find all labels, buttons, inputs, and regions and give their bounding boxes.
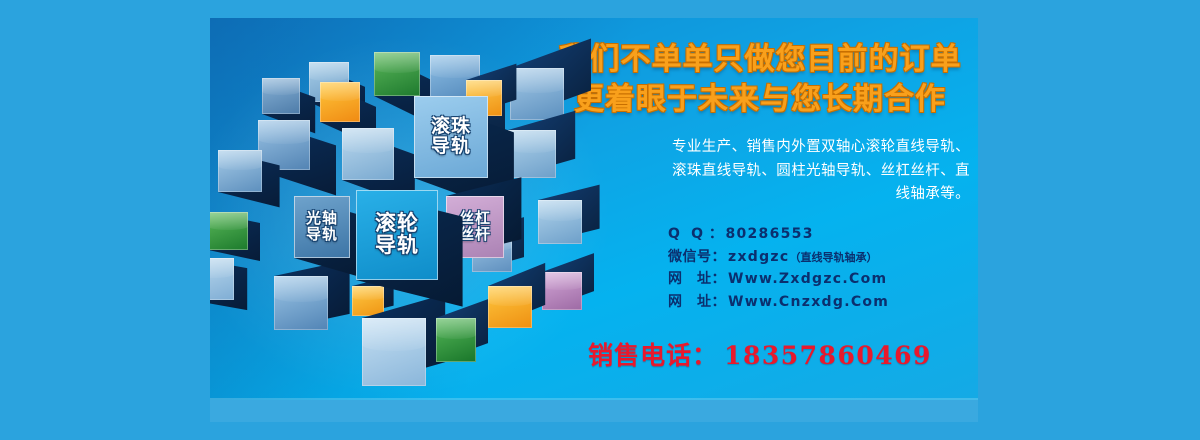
product-cube-line1: 滚珠 xyxy=(431,117,471,137)
sales-phone-number[interactable]: 18357860469 xyxy=(724,341,932,370)
product-cube-guangzhou-daogui[interactable]: 光轴 导轨 xyxy=(294,196,350,258)
decor-cube-orange-bottomright xyxy=(488,286,532,328)
website-2-value[interactable]: Www.Cnzxdg.Com xyxy=(728,291,889,314)
decor-cube-green-top xyxy=(374,52,420,96)
qq-value[interactable]: 80286553 xyxy=(725,223,813,246)
decor-cube-steel-left xyxy=(262,78,300,114)
website-1-value[interactable]: Www.Zxdgzc.Com xyxy=(728,268,887,291)
product-cube-line1: 滚轮 xyxy=(375,213,419,235)
panel-floor xyxy=(210,400,978,422)
wechat-value[interactable]: zxdgzc xyxy=(728,246,789,269)
decor-cube-blue-midright xyxy=(538,200,582,244)
qq-label: Q Q ： xyxy=(668,223,723,246)
decor-cube-blue-right xyxy=(508,130,556,178)
decor-cube-green-bottom xyxy=(436,318,476,362)
decor-cube-purple-right xyxy=(542,272,582,310)
description-line-1: 专业生产、销售内外置双轴心滚轮直线导轨、 xyxy=(576,136,970,159)
product-cube-line1: 光轴 xyxy=(306,211,338,227)
product-cube-gunlun-daogui[interactable]: 滚轮 导轨 xyxy=(356,190,438,280)
headline-line-1: 我们不单单只做您目前的订单 xyxy=(550,40,970,80)
decor-cube-pale-lowleft xyxy=(210,258,234,300)
description-text: 专业生产、销售内外置双轴心滚轮直线导轨、 滚珠直线导轨、圆柱光轴导轨、丝杠丝杆、… xyxy=(550,136,970,206)
sales-phone[interactable]: 销售电话：18357860469 xyxy=(550,336,970,372)
product-cube-line2: 导轨 xyxy=(431,137,471,157)
product-cube-line1: 丝杠 xyxy=(459,211,491,227)
contact-row-wechat: 微信号： zxdgzc （直线导轨轴承） xyxy=(668,246,970,269)
description-line-3: 线轴承等。 xyxy=(576,183,970,206)
decor-cube-pale-center xyxy=(342,128,394,180)
description-line-2: 滚珠直线导轨、圆柱光轴导轨、丝杠丝杆、直 xyxy=(576,160,970,183)
wechat-note: （直线导轨轴承） xyxy=(789,249,877,267)
headline: 我们不单单只做您目前的订单 更着眼于未来与您长期合作 xyxy=(550,40,970,120)
decor-cube-blue-farright xyxy=(510,68,564,120)
website-1-label: 网 址： xyxy=(668,268,726,291)
product-cube-line2: 导轨 xyxy=(375,235,419,257)
banner-panel: 滚珠 导轨 光轴 导轨 滚轮 xyxy=(210,18,978,422)
decor-cube-outer-left xyxy=(218,150,262,192)
decor-cube-pale-bottom xyxy=(362,318,426,386)
cube-cluster-graphic: 滚珠 导轨 光轴 导轨 滚轮 xyxy=(210,18,582,422)
banner-content: 我们不单单只做您目前的订单 更着眼于未来与您长期合作 专业生产、销售内外置双轴心… xyxy=(550,40,970,400)
product-cube-line2: 导轨 xyxy=(306,227,338,243)
product-cube-gunzhu-daogui[interactable]: 滚珠 导轨 xyxy=(414,96,488,178)
decor-cube-orange-lower xyxy=(352,286,384,316)
product-cube-line2: 丝杆 xyxy=(459,227,491,243)
decor-cube-orange-upper xyxy=(320,82,360,122)
contact-row-website-2: 网 址： Www.Cnzxdg.Com xyxy=(668,291,970,314)
contact-block: Q Q ： 80286553 微信号： zxdgzc （直线导轨轴承） 网 址：… xyxy=(550,223,970,314)
sales-phone-label: 销售电话： xyxy=(588,341,718,370)
contact-row-website-1: 网 址： Www.Zxdgzc.Com xyxy=(668,268,970,291)
website-2-label: 网 址： xyxy=(668,291,726,314)
contact-row-qq: Q Q ： 80286553 xyxy=(668,223,970,246)
decor-cube-green-left xyxy=(210,212,248,250)
banner-stage: 滚珠 导轨 光轴 导轨 滚轮 xyxy=(0,0,1200,440)
decor-cube-blue-lowleft xyxy=(274,276,328,330)
wechat-label: 微信号： xyxy=(668,246,726,269)
headline-line-2: 更着眼于未来与您长期合作 xyxy=(550,80,970,120)
